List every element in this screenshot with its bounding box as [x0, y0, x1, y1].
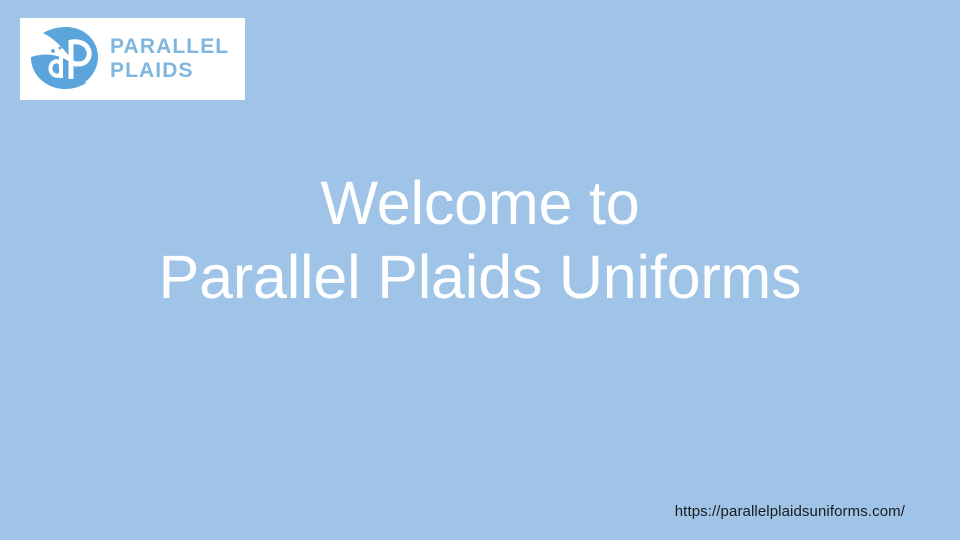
- slide-title: Welcome to Parallel Plaids Uniforms: [0, 166, 960, 314]
- logo-wordmark-line-2: PLAIDS: [110, 59, 229, 83]
- logo-wordmark: PARALLEL PLAIDS: [110, 35, 229, 82]
- website-url[interactable]: https://parallelplaidsuniforms.com/: [675, 503, 905, 520]
- slide-title-line-1: Welcome to: [0, 166, 960, 240]
- slide-title-line-2: Parallel Plaids Uniforms: [0, 240, 960, 314]
- logo-card: PARALLEL PLAIDS: [20, 18, 245, 100]
- slide-canvas: PARALLEL PLAIDS Welcome to Parallel Plai…: [0, 0, 960, 540]
- parallel-plaids-dp-monogram-icon: [28, 26, 100, 92]
- logo-wordmark-line-1: PARALLEL: [110, 35, 229, 59]
